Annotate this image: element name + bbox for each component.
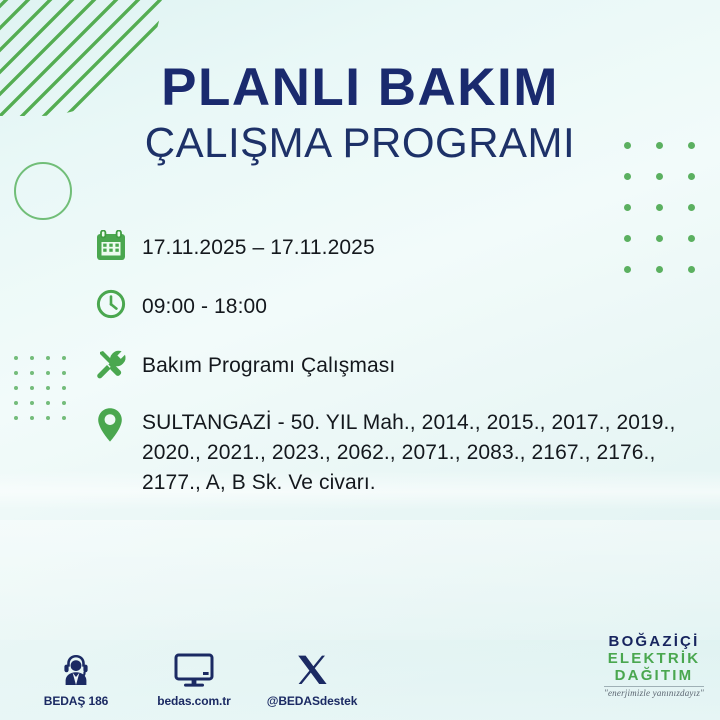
brand-logo-line-2: ELEKTRİK [604, 651, 704, 666]
info-row-time: 09:00 - 18:00 [96, 287, 676, 329]
info-row-address: SULTANGAZİ - 50. YIL Mah., 2014., 2015.,… [96, 405, 676, 497]
info-row-work-type-text: Bakım Programı Çalışması [142, 346, 395, 381]
contact-item-x[interactable]: @BEDASdestek [266, 649, 358, 708]
info-list: 17.11.2025 – 17.11.2025 09:00 - 18:00 [96, 228, 676, 514]
contact-item-phone[interactable]: BEDAŞ 186 [30, 649, 122, 708]
poster-canvas: PLANLI BAKIM ÇALIŞMA PROGRAMI [0, 0, 720, 720]
contact-item-website-label: bedas.com.tr [157, 694, 231, 708]
info-row-time-text: 09:00 - 18:00 [142, 287, 267, 322]
location-pin-icon [96, 405, 142, 447]
info-row-address-text: SULTANGAZİ - 50. YIL Mah., 2014., 2015.,… [142, 405, 676, 497]
brand-logo-line-3: DAĞITIM [604, 668, 704, 683]
info-row-date: 17.11.2025 – 17.11.2025 [96, 228, 676, 270]
contact-item-x-label: @BEDASdestek [267, 694, 358, 708]
brand-logo-slogan: "enerjimizle yanınızdayız" [604, 686, 704, 698]
info-row-date-text: 17.11.2025 – 17.11.2025 [142, 228, 375, 263]
monitor-icon [173, 649, 215, 689]
contact-item-website[interactable]: bedas.com.tr [148, 649, 240, 708]
poster-header: PLANLI BAKIM ÇALIŞMA PROGRAMI [0, 60, 720, 166]
contact-list: BEDAŞ 186 bedas.com.tr [30, 649, 358, 708]
page-title: PLANLI BAKIM [0, 60, 720, 116]
contact-item-phone-label: BEDAŞ 186 [44, 694, 108, 708]
dot-grid-left-decoration [14, 356, 78, 431]
tools-icon [96, 346, 142, 388]
page-subtitle: ÇALIŞMA PROGRAMI [0, 120, 720, 166]
x-twitter-icon [295, 649, 329, 689]
background-band-middle [0, 520, 720, 640]
clock-icon [96, 287, 142, 329]
circle-outline-decoration [14, 162, 72, 220]
brand-logo: BOĞAZİÇİ ELEKTRİK DAĞITIM "enerjimizle y… [604, 634, 704, 698]
info-row-work-type: Bakım Programı Çalışması [96, 346, 676, 388]
brand-logo-line-1: BOĞAZİÇİ [604, 634, 704, 649]
calendar-icon [96, 228, 142, 270]
poster-footer: BEDAŞ 186 bedas.com.tr [0, 628, 720, 720]
call-center-agent-icon [57, 649, 95, 689]
